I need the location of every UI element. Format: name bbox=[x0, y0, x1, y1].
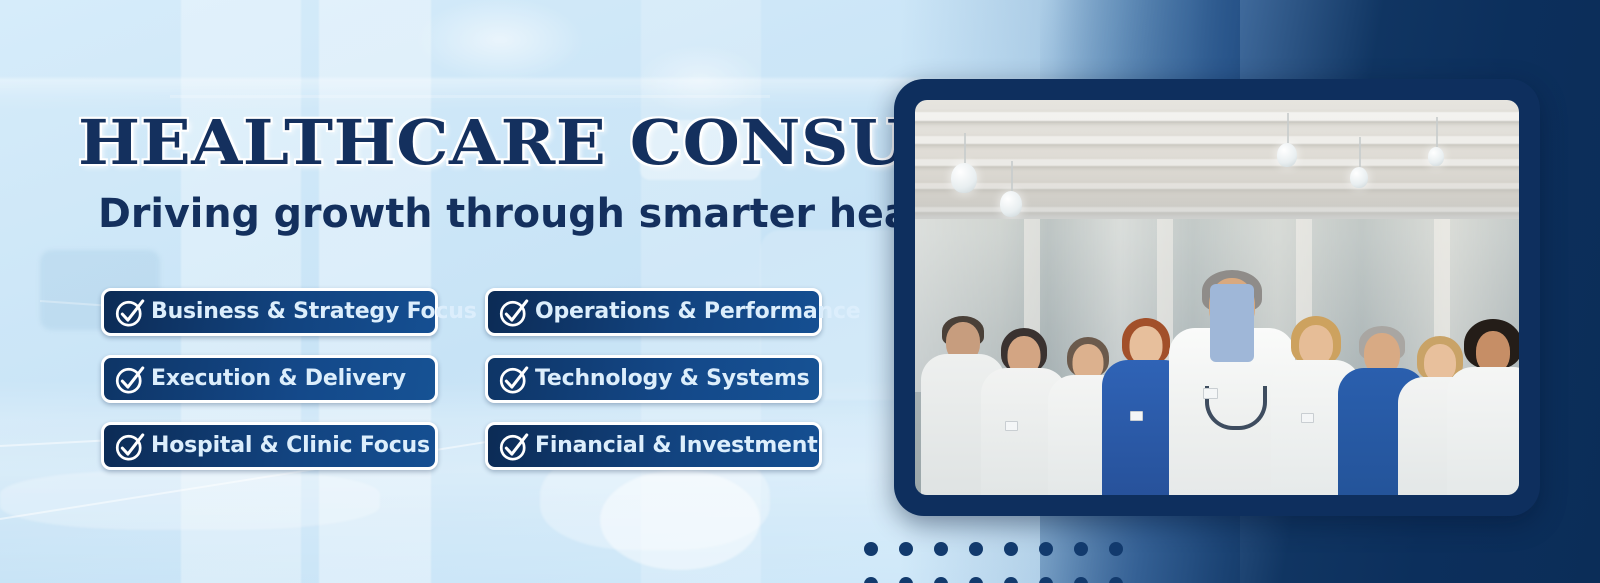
feature-pill-operations-performance[interactable]: Operations & Performance bbox=[485, 288, 822, 336]
grid-dot bbox=[1109, 542, 1123, 556]
grid-dot bbox=[934, 542, 948, 556]
team-photo-card bbox=[894, 79, 1540, 516]
team-member bbox=[1447, 319, 1519, 495]
feature-label: Operations & Performance bbox=[535, 301, 861, 323]
feature-label: Financial & Investment bbox=[535, 435, 818, 457]
dot-grid-decoration bbox=[864, 542, 1134, 583]
feature-pill-execution-delivery[interactable]: Execution & Delivery bbox=[101, 355, 438, 403]
grid-dot bbox=[1074, 577, 1088, 583]
grid-dot bbox=[1039, 577, 1053, 583]
grid-dot bbox=[934, 577, 948, 583]
grid-dot bbox=[1074, 542, 1088, 556]
page-subtitle: Driving growth through smarter healthcar… bbox=[98, 194, 870, 234]
grid-dot bbox=[864, 542, 878, 556]
grid-dot bbox=[864, 577, 878, 583]
feature-list: Business & Strategy Focus Operations & P… bbox=[101, 288, 861, 470]
check-circle-icon bbox=[113, 295, 147, 329]
feature-label: Execution & Delivery bbox=[151, 368, 406, 390]
background-shape bbox=[600, 470, 760, 570]
feature-pill-hospital-clinic-focus[interactable]: Hospital & Clinic Focus bbox=[101, 422, 438, 470]
page-title: HEALTHCARE CONSULTING bbox=[78, 112, 926, 174]
feature-label: Technology & Systems bbox=[535, 368, 809, 390]
grid-dot bbox=[899, 542, 913, 556]
ceiling-beam bbox=[915, 112, 1519, 121]
hanging-bulb-icon bbox=[951, 163, 977, 193]
background-shape bbox=[0, 470, 380, 530]
grid-dot bbox=[1109, 577, 1123, 583]
grid-dot bbox=[969, 577, 983, 583]
grid-dot bbox=[1004, 577, 1018, 583]
headline-block: HEALTHCARE CONSULTING Driving growth thr… bbox=[78, 112, 878, 234]
hanging-bulb-icon bbox=[1000, 191, 1022, 217]
feature-pill-financial-investment[interactable]: Financial & Investment bbox=[485, 422, 822, 470]
healthcare-consulting-banner: HEALTHCARE CONSULTING Driving growth thr… bbox=[0, 0, 1600, 583]
ceiling-beam bbox=[915, 183, 1519, 189]
feature-label: Business & Strategy Focus bbox=[151, 301, 477, 323]
feature-pill-technology-systems[interactable]: Technology & Systems bbox=[485, 355, 822, 403]
grid-dot bbox=[1004, 542, 1018, 556]
check-circle-icon bbox=[113, 429, 147, 463]
ceiling-beam bbox=[915, 136, 1519, 144]
check-circle-icon bbox=[497, 362, 531, 396]
feature-pill-business-strategy-focus[interactable]: Business & Strategy Focus bbox=[101, 288, 438, 336]
check-circle-icon bbox=[497, 429, 531, 463]
background-line bbox=[170, 95, 770, 98]
feature-label: Hospital & Clinic Focus bbox=[151, 435, 430, 457]
check-circle-icon bbox=[497, 295, 531, 329]
grid-dot bbox=[1039, 542, 1053, 556]
hanging-bulb-icon bbox=[1350, 167, 1368, 188]
grid-dot bbox=[969, 542, 983, 556]
grid-dot bbox=[899, 577, 913, 583]
check-circle-icon bbox=[113, 362, 147, 396]
medical-team-group bbox=[915, 250, 1519, 495]
team-photo bbox=[915, 100, 1519, 495]
